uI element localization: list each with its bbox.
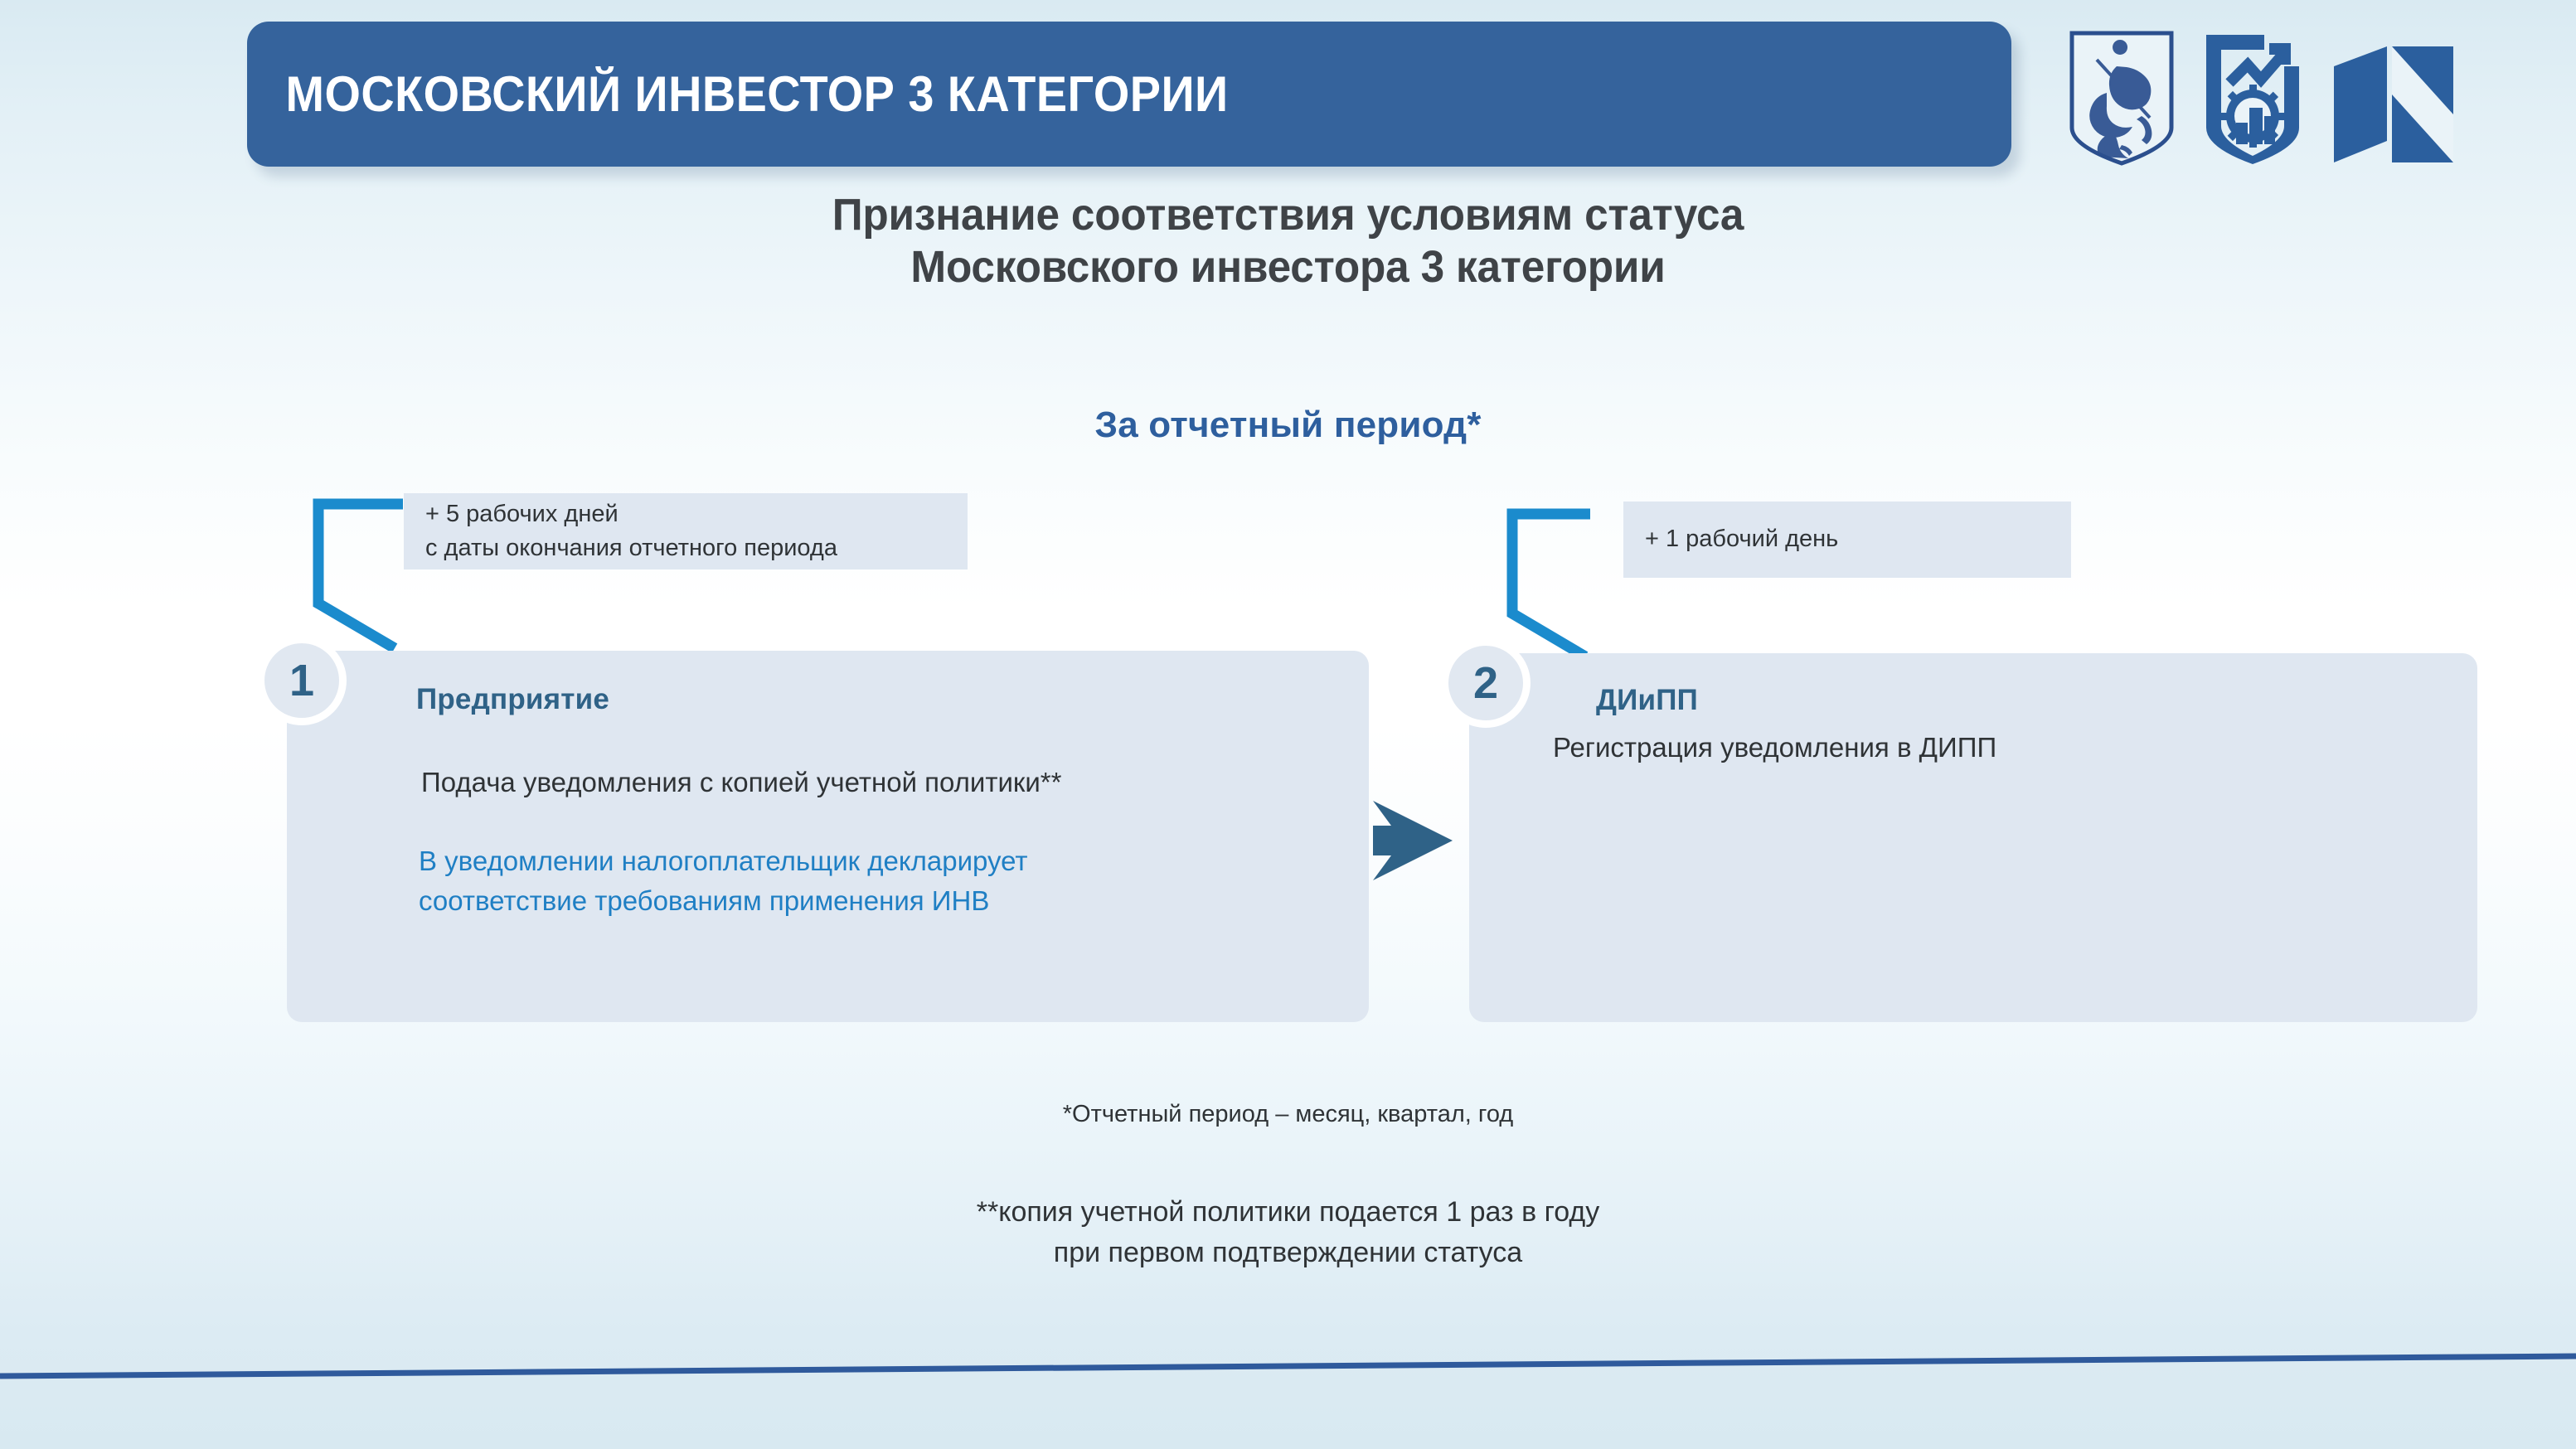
bottom-divider xyxy=(0,1343,2576,1393)
logo-group xyxy=(2069,30,2533,162)
step-2-timing-badge: + 1 рабочий день xyxy=(1623,502,2071,578)
investmoscow-m-logo xyxy=(2331,38,2457,171)
footnote-reporting-period: *Отчетный период – месяц, квартал, год xyxy=(0,1097,2576,1132)
step-2-number-badge: 2 xyxy=(1441,638,1531,728)
moscow-coat-of-arms-logo xyxy=(2069,30,2175,167)
section-subtitle: За отчетный период* xyxy=(0,405,2576,446)
step-2-heading: ДИиПП xyxy=(1596,684,1698,717)
step-1-body: Подача уведомления с копией учетной поли… xyxy=(421,763,1061,802)
step-1-timing-text: + 5 рабочих дней с даты окончания отчетн… xyxy=(425,497,837,565)
step-1-note: В уведомлении налогоплательщик деклариру… xyxy=(419,841,1028,920)
dipp-shield-logo xyxy=(2200,30,2306,167)
step-1-number-badge: 1 xyxy=(257,636,347,725)
page-title-line-2: Московского инвестора 3 категории xyxy=(65,241,2512,293)
step-2-number: 2 xyxy=(1473,657,1498,709)
step-1-timing-badge: + 5 рабочих дней с даты окончания отчетн… xyxy=(404,493,968,569)
page-title: Признание соответствия условиям статуса … xyxy=(0,189,2576,293)
slide-root: МОСКОВСКИЙ ИНВЕСТОР 3 КАТЕГОРИИ xyxy=(0,0,2576,1449)
flow-arrow-icon xyxy=(1366,796,1463,885)
header-banner: МОСКОВСКИЙ ИНВЕСТОР 3 КАТЕГОРИИ xyxy=(247,22,2011,167)
step-1-bracket-icon xyxy=(305,497,405,655)
step-2-bracket-icon xyxy=(1499,507,1598,665)
page-title-line-1: Признание соответствия условиям статуса xyxy=(65,189,2512,241)
footnote-accounting-policy: **копия учетной политики подается 1 раз … xyxy=(0,1192,2576,1274)
step-2-timing-text: + 1 рабочий день xyxy=(1645,522,1838,556)
banner-title: МОСКОВСКИЙ ИНВЕСТОР 3 КАТЕГОРИИ xyxy=(247,65,1229,123)
step-1-number: 1 xyxy=(289,655,314,706)
step-2-body: Регистрация уведомления в ДИПП xyxy=(1553,728,1996,768)
step-1-heading: Предприятие xyxy=(416,683,609,716)
